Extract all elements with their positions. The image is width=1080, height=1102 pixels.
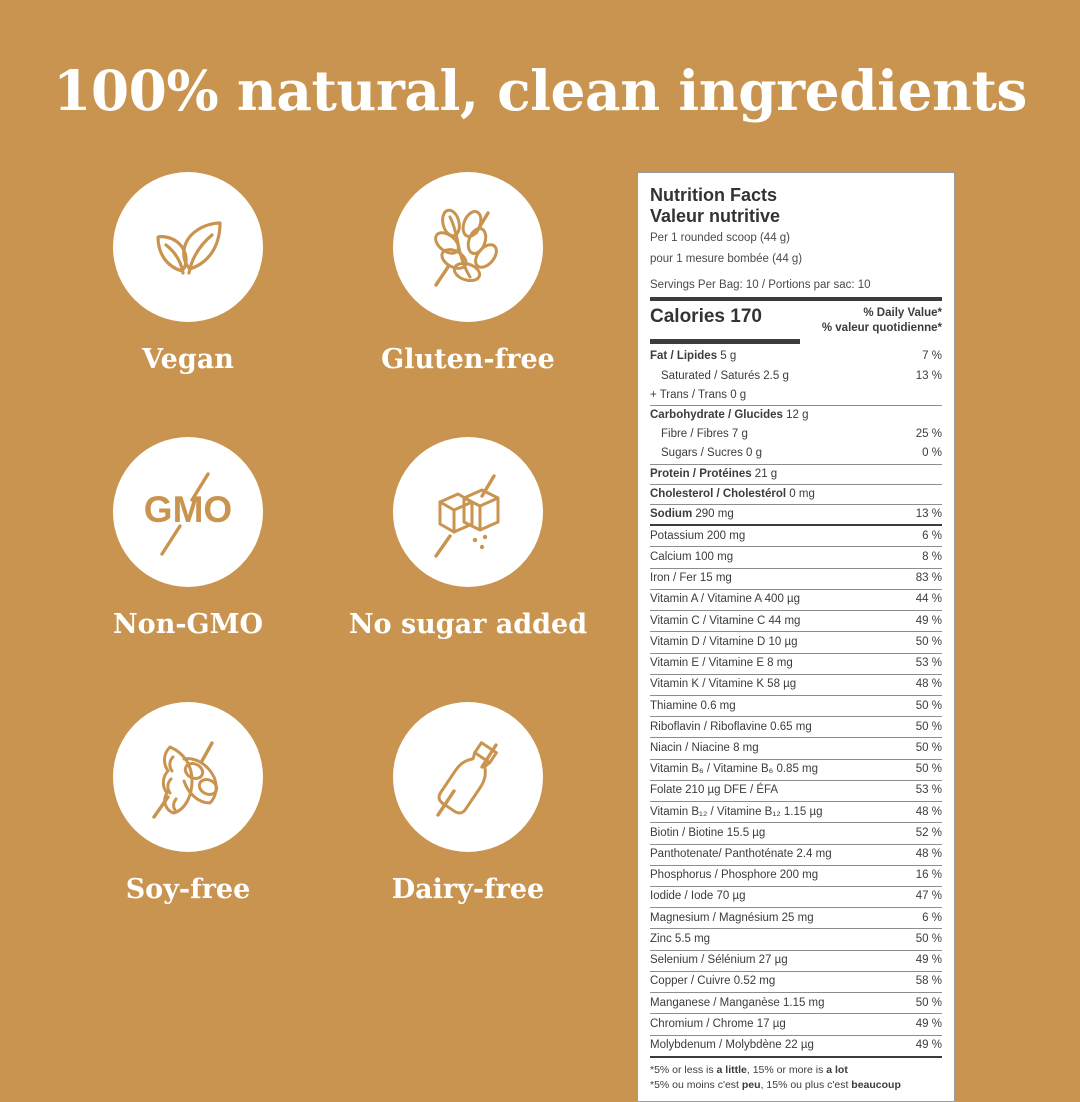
serving-size-en: Per 1 rounded scoop (44 g) xyxy=(650,231,942,247)
nutrient-name: Zinc 5.5 mg xyxy=(650,933,710,946)
nutrient-name: Phosphorus / Phosphore 200 mg xyxy=(650,869,818,882)
nutrient-daily-value: 13 % xyxy=(910,370,942,383)
nutrient-daily-value: 83 % xyxy=(910,572,942,585)
footnote-en-pre: *5% or less is xyxy=(650,1064,717,1076)
nutrient-row: Magnesium / Magnésium 25 mg6 % xyxy=(650,908,942,928)
page-title: 100% natural, clean ingredients xyxy=(0,58,1080,123)
nutrition-title-en: Nutrition Facts xyxy=(650,185,942,206)
nutrient-name: Vitamin B₁₂ / Vitamine B₁₂ 1.15 µg xyxy=(650,806,822,819)
nutrient-row: Iron / Fer 15 mg83 % xyxy=(650,569,942,589)
nutrient-daily-value: 49 % xyxy=(910,615,942,628)
footnote-en-mid: , 15% or more is xyxy=(747,1064,826,1076)
footnote-fr: *5% ou moins c'est peu, 15% ou plus c'es… xyxy=(650,1078,942,1093)
nutrient-daily-value: 49 % xyxy=(910,1018,942,1031)
nutrient-row: Fibre / Fibres 7 g25 % xyxy=(650,425,942,444)
wheat-icon xyxy=(420,199,516,295)
nutrient-name: Vitamin C / Vitamine C 44 mg xyxy=(650,615,800,628)
badge-circle: GMO xyxy=(113,437,263,587)
nutrient-row: Niacin / Niacine 8 mg50 % xyxy=(650,738,942,758)
nutrition-facts-panel: Nutrition Facts Valeur nutritive Per 1 r… xyxy=(637,172,955,1102)
nutrient-row: Potassium 200 mg6 % xyxy=(650,526,942,546)
gmo-text-icon: GMO xyxy=(134,458,242,566)
nutrient-name: Copper / Cuivre 0.52 mg xyxy=(650,975,775,988)
badge-label: Dairy-free xyxy=(392,874,544,905)
nutrient-daily-value: 50 % xyxy=(910,700,942,713)
nutrient-row: Panthotenate/ Panthoténate 2.4 mg48 % xyxy=(650,845,942,865)
nutrient-daily-value: 52 % xyxy=(910,827,942,840)
nutrient-name: Niacin / Niacine 8 mg xyxy=(650,742,759,755)
nutrient-row: + Trans / Trans 0 g xyxy=(650,386,942,405)
calories-bar xyxy=(650,339,800,344)
footnote-fr-bold-1: peu xyxy=(742,1079,761,1091)
carbs-group: Carbohydrate / Glucides 12 gFibre / Fibr… xyxy=(650,406,942,464)
nutrient-daily-value: 0 % xyxy=(916,447,942,460)
nutrient-row: Biotin / Biotine 15.5 µg52 % xyxy=(650,823,942,843)
nutrient-name: Selenium / Sélénium 27 µg xyxy=(650,954,788,967)
nutrient-row: Manganese / Manganèse 1.15 mg50 % xyxy=(650,993,942,1013)
sodium-group: Sodium 290 mg13 % xyxy=(650,505,942,524)
nutrient-daily-value: 50 % xyxy=(910,763,942,776)
nutrient-row: Vitamin A / Vitamine A 400 µg44 % xyxy=(650,590,942,610)
nutrient-daily-value: 48 % xyxy=(910,848,942,861)
nutrient-row: Iodide / Iode 70 µg47 % xyxy=(650,887,942,907)
nutrient-name: Biotin / Biotine 15.5 µg xyxy=(650,827,765,840)
nutrient-daily-value: 6 % xyxy=(916,530,942,543)
nutrient-name: Sugars / Sucres 0 g xyxy=(650,447,762,460)
nutrient-name: Manganese / Manganèse 1.15 mg xyxy=(650,997,825,1010)
nutrient-row: Selenium / Sélénium 27 µg49 % xyxy=(650,951,942,971)
nutrient-row: Sugars / Sucres 0 g0 % xyxy=(650,444,942,463)
badge-label: No sugar added xyxy=(349,609,587,640)
nutrient-name: Vitamin D / Vitamine D 10 µg xyxy=(650,636,797,649)
nutrient-name: Carbohydrate / Glucides 12 g xyxy=(650,409,809,422)
daily-value-en: % Daily Value* xyxy=(822,306,942,321)
nutrient-name: Iron / Fer 15 mg xyxy=(650,572,732,585)
nutrient-row: Cholesterol / Cholestérol 0 mg xyxy=(650,485,942,504)
nutrient-name: Vitamin B₆ / Vitamine B₆ 0.85 mg xyxy=(650,763,818,776)
badge-non-gmo: GMO Non-GMO xyxy=(48,437,328,640)
nutrient-row: Vitamin B₁₂ / Vitamine B₁₂ 1.15 µg48 % xyxy=(650,802,942,822)
nutrient-row: Saturated / Saturés 2.5 g13 % xyxy=(650,367,942,386)
nutrient-row: Chromium / Chrome 17 µg49 % xyxy=(650,1014,942,1034)
nutrient-name: Iodide / Iode 70 µg xyxy=(650,890,746,903)
nutrient-daily-value: 6 % xyxy=(916,912,942,925)
nutrient-row: Riboflavin / Riboflavine 0.65 mg50 % xyxy=(650,717,942,737)
nutrient-row: Sodium 290 mg13 % xyxy=(650,505,942,524)
calories-label: Calories 170 xyxy=(650,306,762,328)
nutrient-daily-value: 25 % xyxy=(910,428,942,441)
nutrient-row: Molybdenum / Molybdène 22 µg49 % xyxy=(650,1036,942,1056)
nutrient-name: Thiamine 0.6 mg xyxy=(650,700,736,713)
nutrient-daily-value: 49 % xyxy=(910,954,942,967)
badge-circle xyxy=(113,172,263,322)
nutrient-name: Molybdenum / Molybdène 22 µg xyxy=(650,1039,814,1052)
nutrient-daily-value: 7 % xyxy=(916,350,942,363)
footnote-fr-pre: *5% ou moins c'est xyxy=(650,1079,742,1091)
nutrient-daily-value: 47 % xyxy=(910,890,942,903)
badge-row: Vegan xyxy=(48,172,608,375)
nutrient-name: Potassium 200 mg xyxy=(650,530,745,543)
badge-circle xyxy=(393,437,543,587)
badge-dairy-free: Dairy-free xyxy=(328,702,608,905)
badge-soy-free: Soy-free xyxy=(48,702,328,905)
nutrition-title-fr: Valeur nutritive xyxy=(650,206,942,227)
nutrient-row: Folate 210 µg DFE / ÉFA53 % xyxy=(650,781,942,801)
milk-bottle-icon xyxy=(420,729,516,825)
leaves-icon xyxy=(142,201,234,293)
daily-value-fr: % valeur quotidienne* xyxy=(822,321,942,336)
nutrient-daily-value: 58 % xyxy=(910,975,942,988)
nutrient-name: Vitamin K / Vitamine K 58 µg xyxy=(650,678,796,691)
nutrient-row: Phosphorus / Phosphore 200 mg16 % xyxy=(650,866,942,886)
nutrient-name: Cholesterol / Cholestérol 0 mg xyxy=(650,488,815,501)
nutrient-row: Carbohydrate / Glucides 12 g xyxy=(650,406,942,425)
badge-label: Gluten-free xyxy=(381,344,555,375)
nutrient-name: Protein / Protéines 21 g xyxy=(650,468,777,481)
badge-label: Non-GMO xyxy=(113,609,263,640)
nutrient-row: Protein / Protéines 21 g xyxy=(650,465,942,484)
nutrient-name: Fat / Lipides 5 g xyxy=(650,350,736,363)
nutrient-daily-value: 44 % xyxy=(910,593,942,606)
calories-row: Calories 170 % Daily Value* % valeur quo… xyxy=(650,301,942,336)
nutrient-name: Magnesium / Magnésium 25 mg xyxy=(650,912,814,925)
nutrient-name: Vitamin A / Vitamine A 400 µg xyxy=(650,593,800,606)
nutrient-name: Chromium / Chrome 17 µg xyxy=(650,1018,786,1031)
nutrient-daily-value: 16 % xyxy=(910,869,942,882)
nutrient-name: Fibre / Fibres 7 g xyxy=(650,428,748,441)
badge-gluten-free: Gluten-free xyxy=(328,172,608,375)
badge-row: Soy-free Dairy-free xyxy=(48,702,608,905)
nutrient-daily-value: 50 % xyxy=(910,997,942,1010)
nutrient-row: Thiamine 0.6 mg50 % xyxy=(650,696,942,716)
nutrient-name: Sodium 290 mg xyxy=(650,508,734,521)
nutrient-row: Vitamin E / Vitamine E 8 mg53 % xyxy=(650,654,942,674)
daily-value-header: % Daily Value* % valeur quotidienne* xyxy=(822,306,942,336)
badge-label: Soy-free xyxy=(126,874,251,905)
svg-text:GMO: GMO xyxy=(144,489,232,530)
row-spacer xyxy=(48,640,608,702)
sugar-cubes-icon xyxy=(420,464,516,560)
nutrient-row: Fat / Lipides 5 g7 % xyxy=(650,347,942,366)
nutrient-name: Riboflavin / Riboflavine 0.65 mg xyxy=(650,721,812,734)
badge-no-sugar-added: No sugar added xyxy=(328,437,608,640)
row-spacer xyxy=(48,375,608,437)
nutrient-daily-value: 53 % xyxy=(910,657,942,670)
nutrient-daily-value: 48 % xyxy=(910,806,942,819)
nutrient-name: Saturated / Saturés 2.5 g xyxy=(650,370,789,383)
micronutrients-group: Potassium 200 mg6 %Calcium 100 mg8 %Iron… xyxy=(650,526,942,1055)
servings-per-bag: Servings Per Bag: 10 / Portions par sac:… xyxy=(650,279,942,297)
nutrient-name: Vitamin E / Vitamine E 8 mg xyxy=(650,657,793,670)
nutrient-row: Vitamin B₆ / Vitamine B₆ 0.85 mg50 % xyxy=(650,760,942,780)
serving-size-fr: pour 1 mesure bombée (44 g) xyxy=(650,252,942,268)
nutrient-daily-value: 50 % xyxy=(910,721,942,734)
footnote-fr-bold-2: beaucoup xyxy=(851,1079,901,1091)
badge-label: Vegan xyxy=(142,344,234,375)
nutrient-daily-value: 50 % xyxy=(910,742,942,755)
nutrient-daily-value: 13 % xyxy=(910,508,942,521)
badge-circle xyxy=(113,702,263,852)
nutrient-row: Calcium 100 mg8 % xyxy=(650,547,942,567)
nutrient-row: Zinc 5.5 mg50 % xyxy=(650,929,942,949)
badge-row: GMO Non-GMO xyxy=(48,437,608,640)
soybean-pod-icon xyxy=(140,729,236,825)
footnote-fr-mid: , 15% ou plus c'est xyxy=(761,1079,852,1091)
footnote-en-bold-2: a lot xyxy=(826,1064,848,1076)
nutrient-daily-value: 8 % xyxy=(916,551,942,564)
badge-vegan: Vegan xyxy=(48,172,328,375)
badge-circle xyxy=(393,702,543,852)
nutrient-daily-value: 50 % xyxy=(910,933,942,946)
footnote-en-bold-1: a little xyxy=(717,1064,747,1076)
footnote: *5% or less is a little, 15% or more is … xyxy=(650,1058,942,1093)
protein-group: Protein / Protéines 21 g xyxy=(650,465,942,484)
footnote-en: *5% or less is a little, 15% or more is … xyxy=(650,1063,942,1078)
nutrient-daily-value: 48 % xyxy=(910,678,942,691)
nutrient-name: Panthotenate/ Panthoténate 2.4 mg xyxy=(650,848,832,861)
macros-group: Fat / Lipides 5 g7 %Saturated / Saturés … xyxy=(650,347,942,405)
badge-circle xyxy=(393,172,543,322)
cholesterol-group: Cholesterol / Cholestérol 0 mg xyxy=(650,485,942,504)
nutrient-row: Vitamin D / Vitamine D 10 µg50 % xyxy=(650,632,942,652)
nutrient-name: Calcium 100 mg xyxy=(650,551,733,564)
nutrient-daily-value: 49 % xyxy=(910,1039,942,1052)
nutrient-daily-value: 53 % xyxy=(910,784,942,797)
nutrient-daily-value: 50 % xyxy=(910,636,942,649)
nutrient-name: + Trans / Trans 0 g xyxy=(650,389,746,402)
nutrient-row: Vitamin K / Vitamine K 58 µg48 % xyxy=(650,675,942,695)
badge-grid: Vegan xyxy=(48,172,608,905)
nutrient-name: Folate 210 µg DFE / ÉFA xyxy=(650,784,778,797)
nutrient-row: Copper / Cuivre 0.52 mg58 % xyxy=(650,972,942,992)
nutrient-row: Vitamin C / Vitamine C 44 mg49 % xyxy=(650,611,942,631)
